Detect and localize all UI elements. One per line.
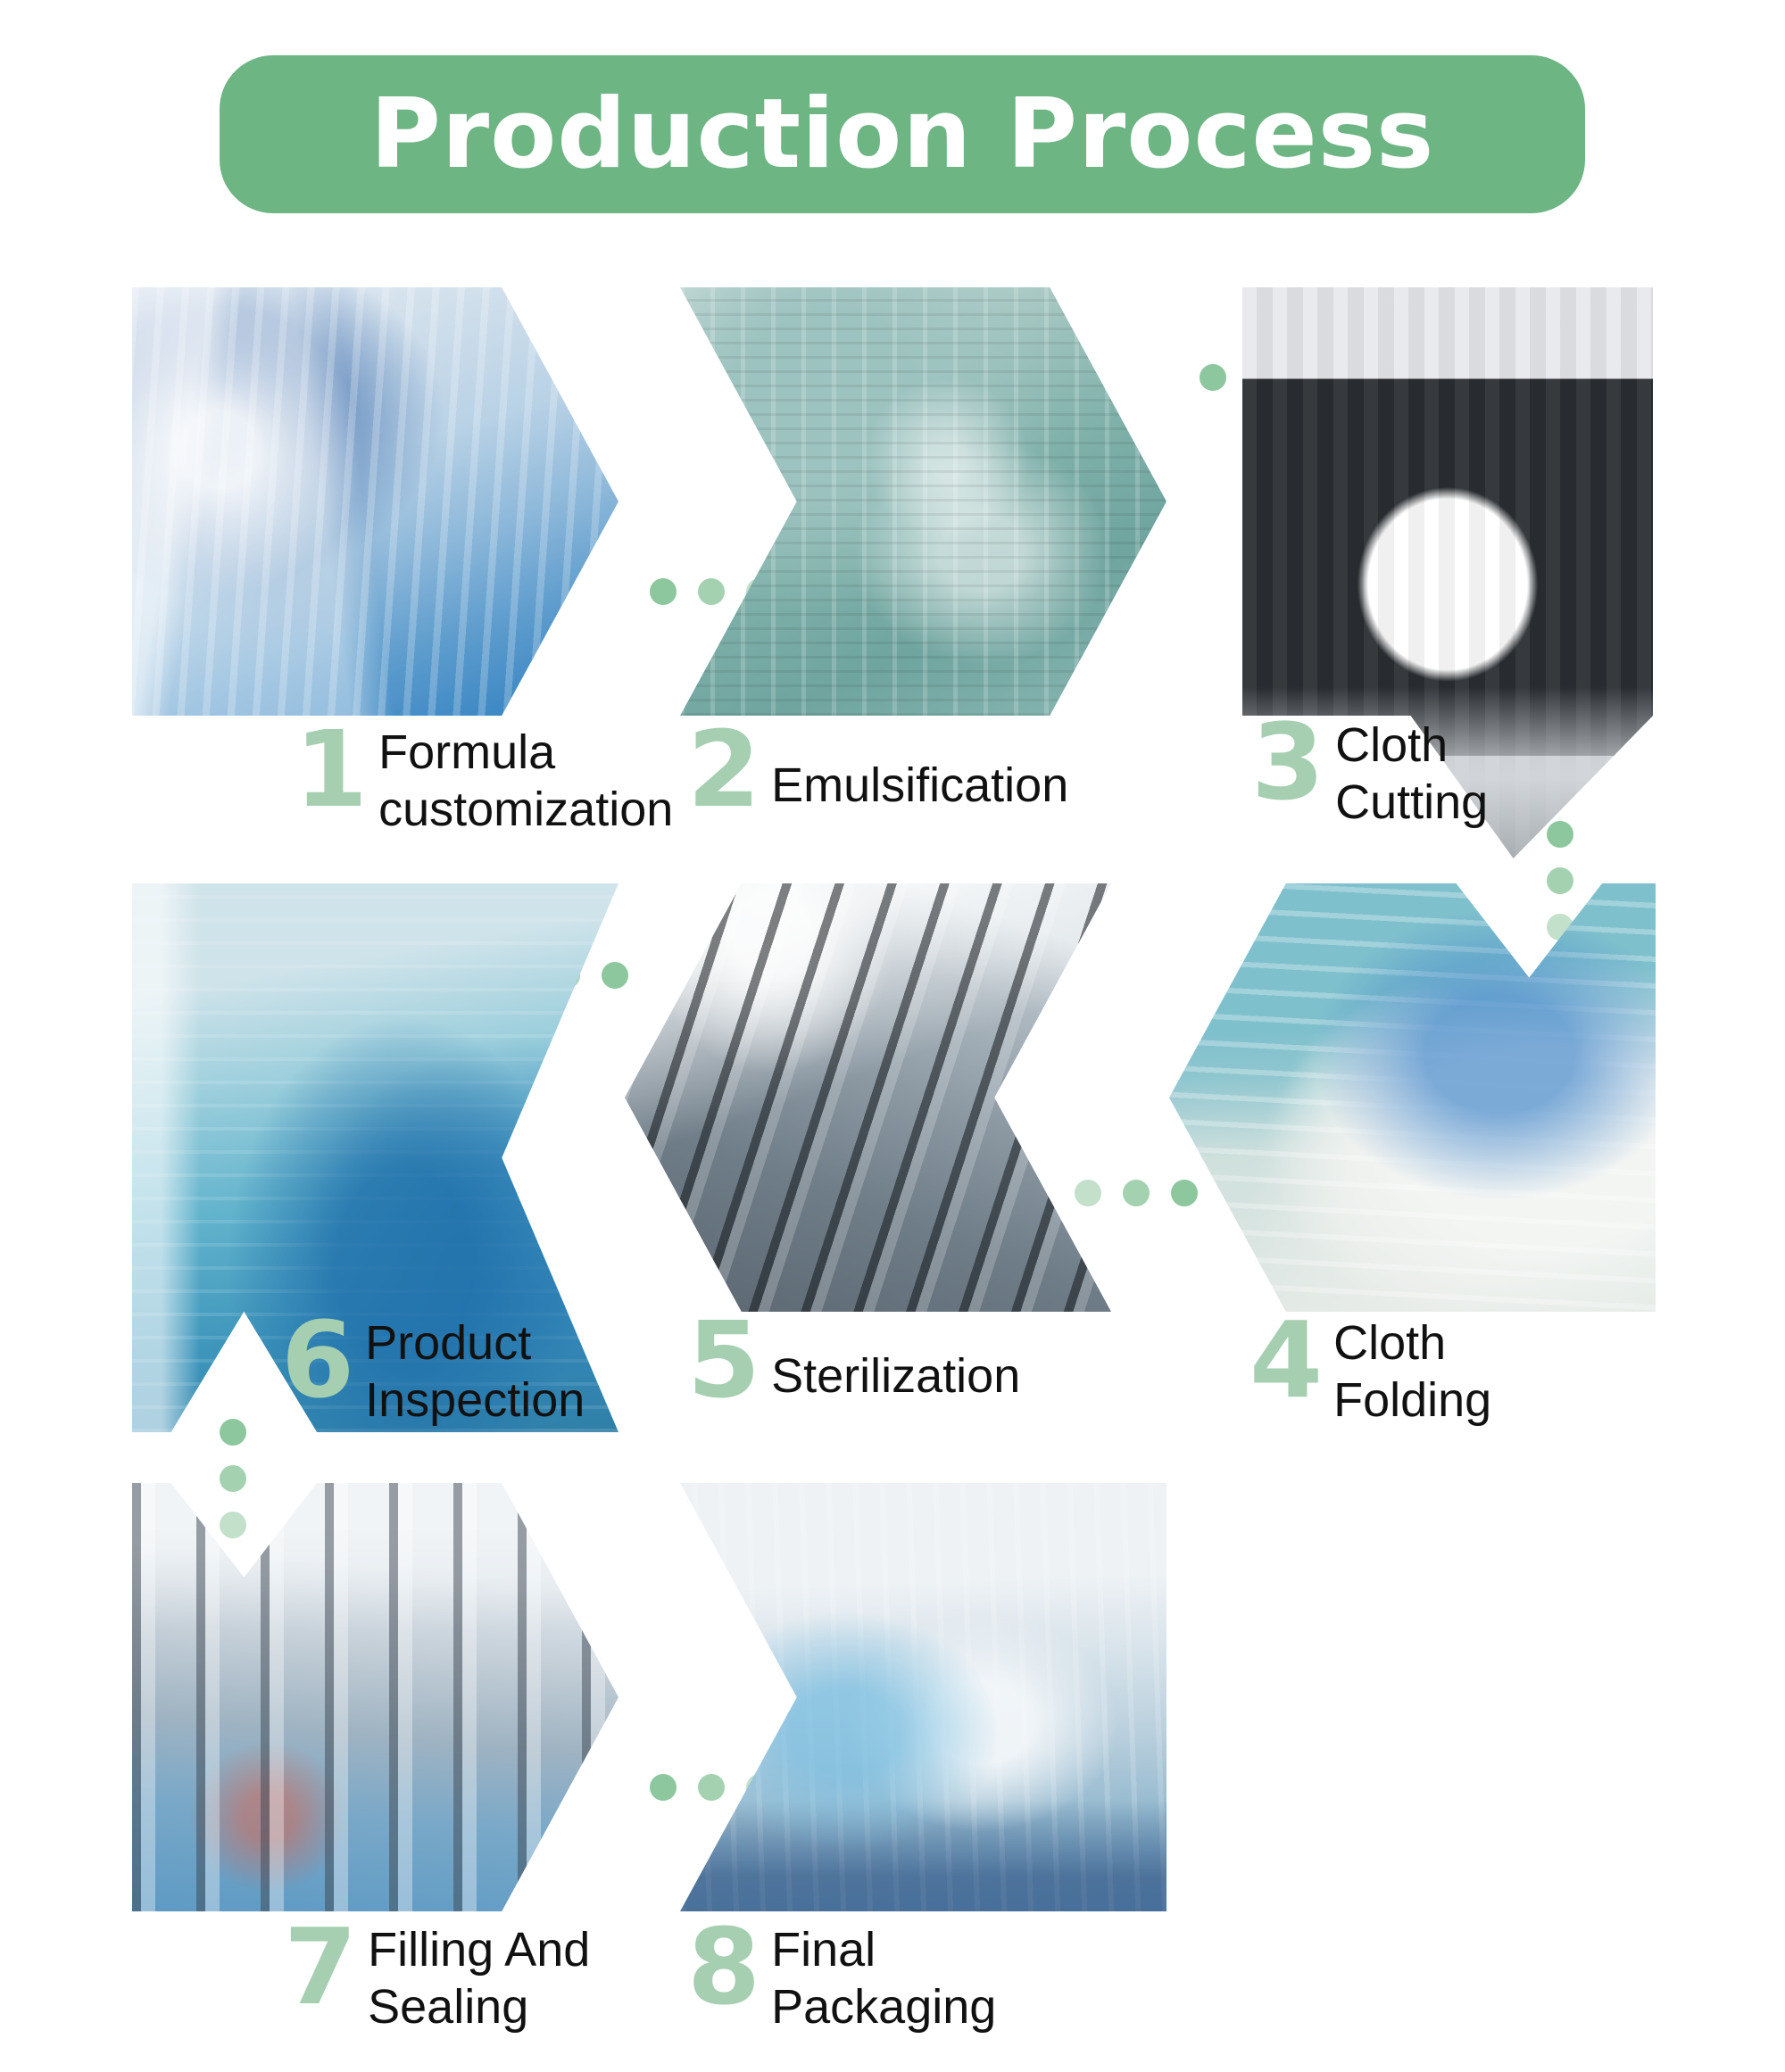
step-number: 6 <box>281 1312 353 1409</box>
connector-dot <box>220 1419 246 1446</box>
connector-dot <box>1200 364 1226 391</box>
connector-step-4-to-5 <box>1075 1180 1198 1206</box>
step-caption-4: 4 Cloth Folding <box>1249 1312 1491 1429</box>
step-label: Sterilization <box>771 1348 1020 1405</box>
step-caption-5: 5 Sterilization <box>687 1312 1020 1409</box>
photo-laboratory-pipette-flasks <box>132 287 619 716</box>
page-title: Production Process <box>370 87 1435 183</box>
step-photo-2 <box>680 287 1166 716</box>
step-caption-8: 8 Final Packaging <box>687 1919 996 2035</box>
step-label: Cloth Cutting <box>1335 717 1488 831</box>
infographic-page: Production Process 1 Formula customizati… <box>0 0 1785 2072</box>
step-caption-3: 3 Cloth Cutting <box>1251 714 1488 831</box>
step-number: 2 <box>687 721 759 818</box>
connector-dot <box>698 1774 725 1801</box>
step-number: 1 <box>295 721 366 818</box>
step-number: 8 <box>687 1919 759 2016</box>
step-number: 5 <box>687 1312 759 1409</box>
connector-dot <box>220 1512 246 1538</box>
step-label: Formula customization <box>378 725 673 838</box>
step-label: Final Packaging <box>771 1922 996 2035</box>
connector-dot <box>650 578 677 605</box>
step-number: 7 <box>284 1919 355 2016</box>
connector-dot <box>1547 867 1573 894</box>
step-caption-7: 7 Filling And Sealing <box>284 1919 590 2035</box>
step-number: 4 <box>1249 1312 1321 1409</box>
connector-dot <box>1123 1180 1150 1206</box>
step-caption-2: 2 Emulsification <box>687 721 1068 818</box>
photo-final-packaging-cleanroom <box>680 1483 1166 1911</box>
photo-filling-sealing-machine <box>132 1483 619 1911</box>
step-photo-1 <box>132 287 619 716</box>
step-caption-1: 1 Formula customization <box>295 721 673 838</box>
connector-dot <box>698 578 725 605</box>
page-title-banner: Production Process <box>220 55 1585 213</box>
connector-dot <box>220 1465 246 1492</box>
step-label: Emulsification <box>771 758 1068 815</box>
step-number: 3 <box>1251 714 1323 811</box>
connector-dot <box>650 1774 677 1801</box>
step-photo-8 <box>680 1483 1166 1911</box>
connector-dot <box>1547 821 1573 848</box>
photo-worker-folding-mask-cloth <box>1169 883 1656 1312</box>
step-photo-5 <box>625 883 1111 1312</box>
connector-dot <box>1075 1180 1101 1206</box>
connector-step-3-to-4 <box>1547 821 1573 941</box>
connector-dot <box>602 962 628 989</box>
photo-emulsification-tanks-operator <box>680 287 1166 716</box>
photo-sterilization-production-line <box>625 883 1111 1312</box>
connector-dot <box>1171 1180 1198 1206</box>
step-label: Product Inspection <box>365 1315 585 1429</box>
step-photo-4 <box>1169 883 1656 1312</box>
step-label: Filling And Sealing <box>368 1922 590 2035</box>
connector-step-6-to-7 <box>220 1419 246 1538</box>
step-caption-6: 6 Product Inspection <box>281 1312 585 1429</box>
step-label: Cloth Folding <box>1333 1315 1491 1429</box>
step-photo-7 <box>132 1483 619 1911</box>
